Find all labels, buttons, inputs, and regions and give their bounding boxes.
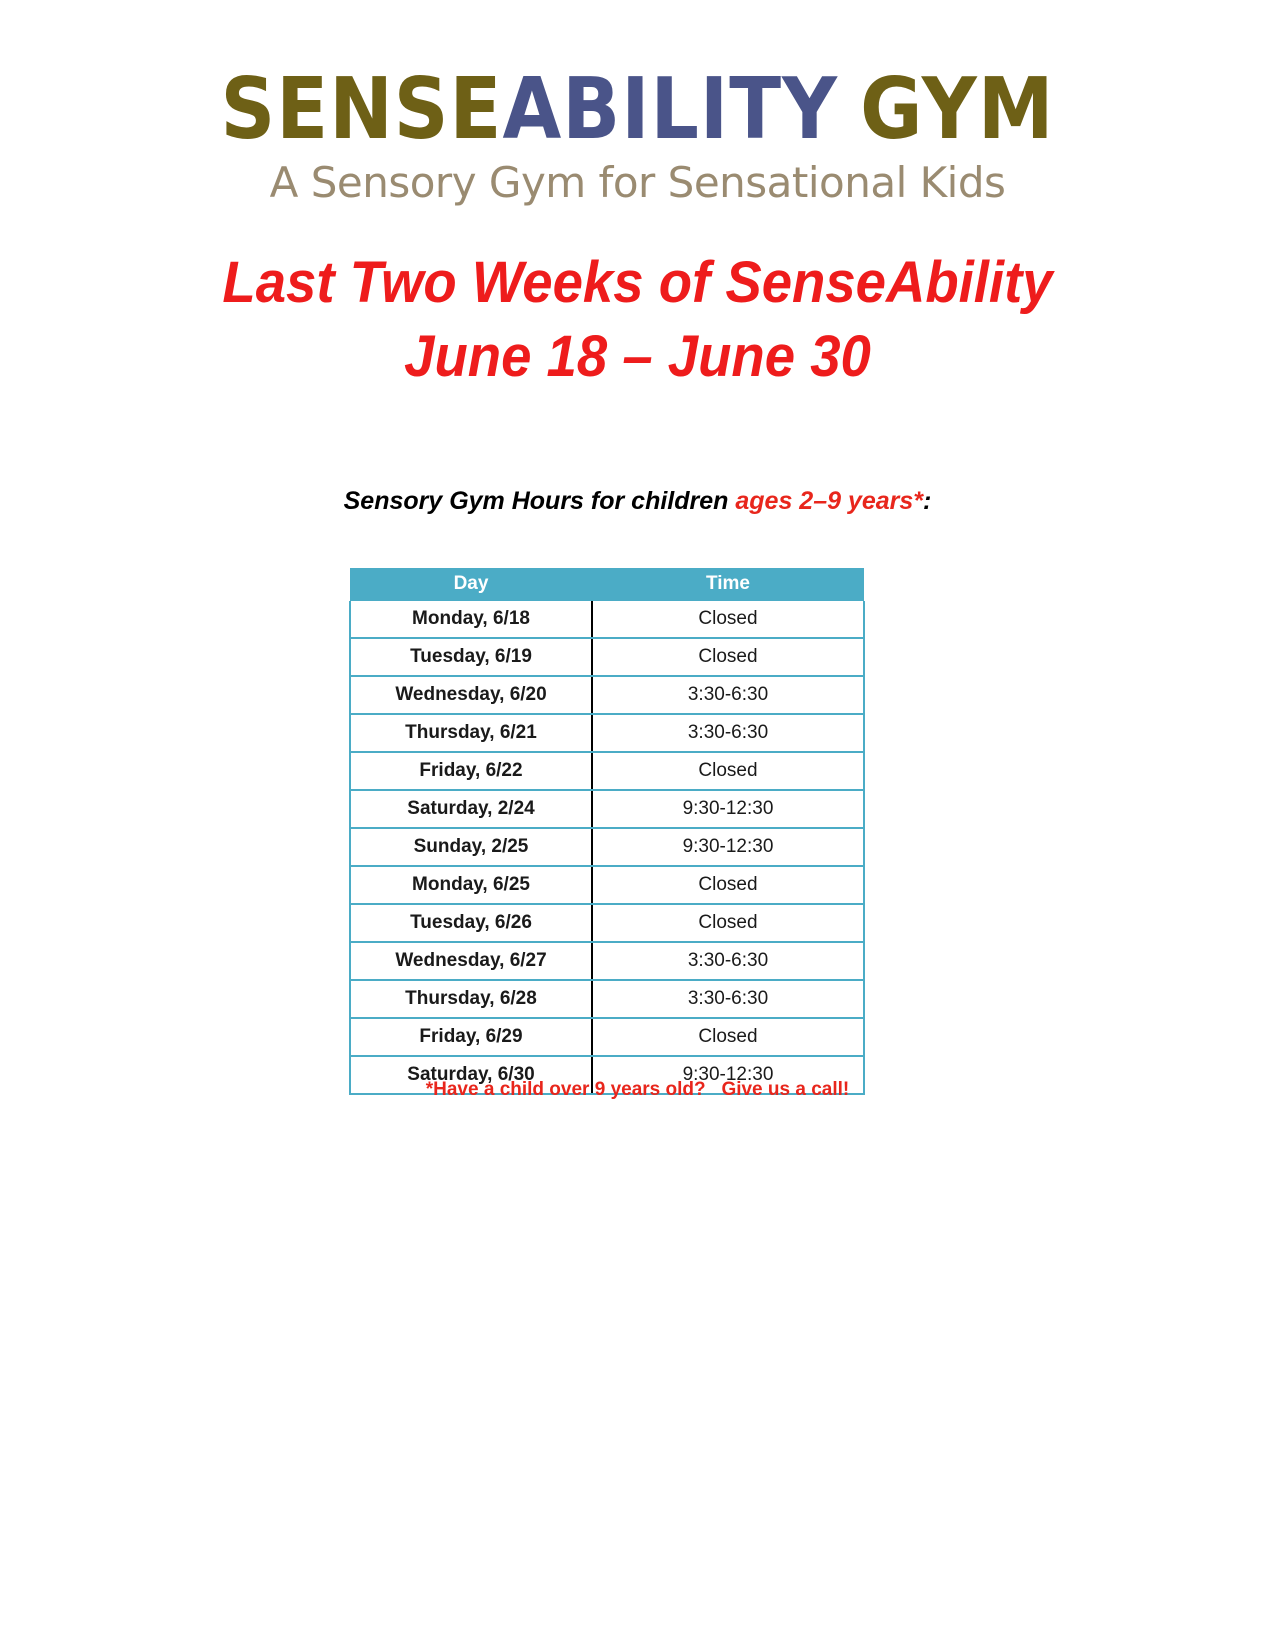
cell-day: Monday, 6/18 bbox=[350, 601, 592, 638]
cell-day: Wednesday, 6/27 bbox=[350, 942, 592, 980]
cell-day: Wednesday, 6/20 bbox=[350, 676, 592, 714]
cell-time: Closed bbox=[592, 866, 864, 904]
cell-time: 3:30-6:30 bbox=[592, 942, 864, 980]
subtitle-age-range: ages 2–9 years* bbox=[735, 487, 923, 515]
cell-day: Monday, 6/25 bbox=[350, 866, 592, 904]
cell-day: Saturday, 2/24 bbox=[350, 790, 592, 828]
page-title-line-1: Last Two Weeks of SenseAbility bbox=[222, 250, 1052, 315]
subtitle-black-text: Sensory Gym Hours for children bbox=[344, 487, 736, 515]
table-row: Monday, 6/18Closed bbox=[350, 601, 864, 638]
schedule-table-container: Day Time Monday, 6/18ClosedTuesday, 6/19… bbox=[349, 568, 863, 1095]
brand-logo: SENSEABILITYGYM A Sensory Gym for Sensat… bbox=[0, 62, 1275, 206]
table-row: Saturday, 2/249:30-12:30 bbox=[350, 790, 864, 828]
table-row: Thursday, 6/213:30-6:30 bbox=[350, 714, 864, 752]
footnote-note: *Have a child over 9 years old? Give us … bbox=[0, 1078, 1275, 1102]
table-header-row: Day Time bbox=[350, 568, 864, 601]
table-row: Friday, 6/29Closed bbox=[350, 1018, 864, 1056]
schedule-table: Day Time Monday, 6/18ClosedTuesday, 6/19… bbox=[349, 568, 865, 1095]
table-row: Tuesday, 6/26Closed bbox=[350, 904, 864, 942]
cell-time: Closed bbox=[592, 638, 864, 676]
cell-time: 3:30-6:30 bbox=[592, 980, 864, 1018]
table-row: Wednesday, 6/203:30-6:30 bbox=[350, 676, 864, 714]
column-header-time: Time bbox=[592, 568, 864, 601]
logo-word-ability: ABILITY bbox=[502, 59, 838, 159]
cell-time: Closed bbox=[592, 601, 864, 638]
cell-time: Closed bbox=[592, 752, 864, 790]
logo-word-gym: GYM bbox=[860, 59, 1054, 159]
table-row: Thursday, 6/283:30-6:30 bbox=[350, 980, 864, 1018]
schedule-table-body: Monday, 6/18ClosedTuesday, 6/19ClosedWed… bbox=[350, 601, 864, 1094]
cell-day: Thursday, 6/28 bbox=[350, 980, 592, 1018]
cell-day: Sunday, 2/25 bbox=[350, 828, 592, 866]
schedule-table-head: Day Time bbox=[350, 568, 864, 601]
logo-word-sense: SENSE bbox=[221, 59, 503, 159]
cell-time: 3:30-6:30 bbox=[592, 714, 864, 752]
column-header-day: Day bbox=[350, 568, 592, 601]
table-row: Sunday, 2/259:30-12:30 bbox=[350, 828, 864, 866]
cell-time: 3:30-6:30 bbox=[592, 676, 864, 714]
page-title: Last Two Weeks of SenseAbility June 18 –… bbox=[38, 246, 1237, 394]
logo-tagline: A Sensory Gym for Sensational Kids bbox=[0, 160, 1275, 206]
table-row: Monday, 6/25Closed bbox=[350, 866, 864, 904]
table-row: Wednesday, 6/273:30-6:30 bbox=[350, 942, 864, 980]
table-row: Tuesday, 6/19Closed bbox=[350, 638, 864, 676]
cell-day: Thursday, 6/21 bbox=[350, 714, 592, 752]
subtitle: Sensory Gym Hours for children ages 2–9 … bbox=[0, 486, 1275, 516]
cell-time: 9:30-12:30 bbox=[592, 790, 864, 828]
logo-wordmark: SENSEABILITYGYM bbox=[0, 62, 1275, 156]
cell-time: Closed bbox=[592, 904, 864, 942]
cell-day: Tuesday, 6/19 bbox=[350, 638, 592, 676]
page-title-line-2: June 18 – June 30 bbox=[38, 320, 1237, 394]
cell-day: Tuesday, 6/26 bbox=[350, 904, 592, 942]
subtitle-trailing-colon: : bbox=[923, 487, 931, 515]
cell-day: Friday, 6/29 bbox=[350, 1018, 592, 1056]
flyer-page: SENSEABILITYGYM A Sensory Gym for Sensat… bbox=[0, 0, 1275, 1650]
cell-day: Friday, 6/22 bbox=[350, 752, 592, 790]
table-row: Friday, 6/22Closed bbox=[350, 752, 864, 790]
cell-time: Closed bbox=[592, 1018, 864, 1056]
cell-time: 9:30-12:30 bbox=[592, 828, 864, 866]
